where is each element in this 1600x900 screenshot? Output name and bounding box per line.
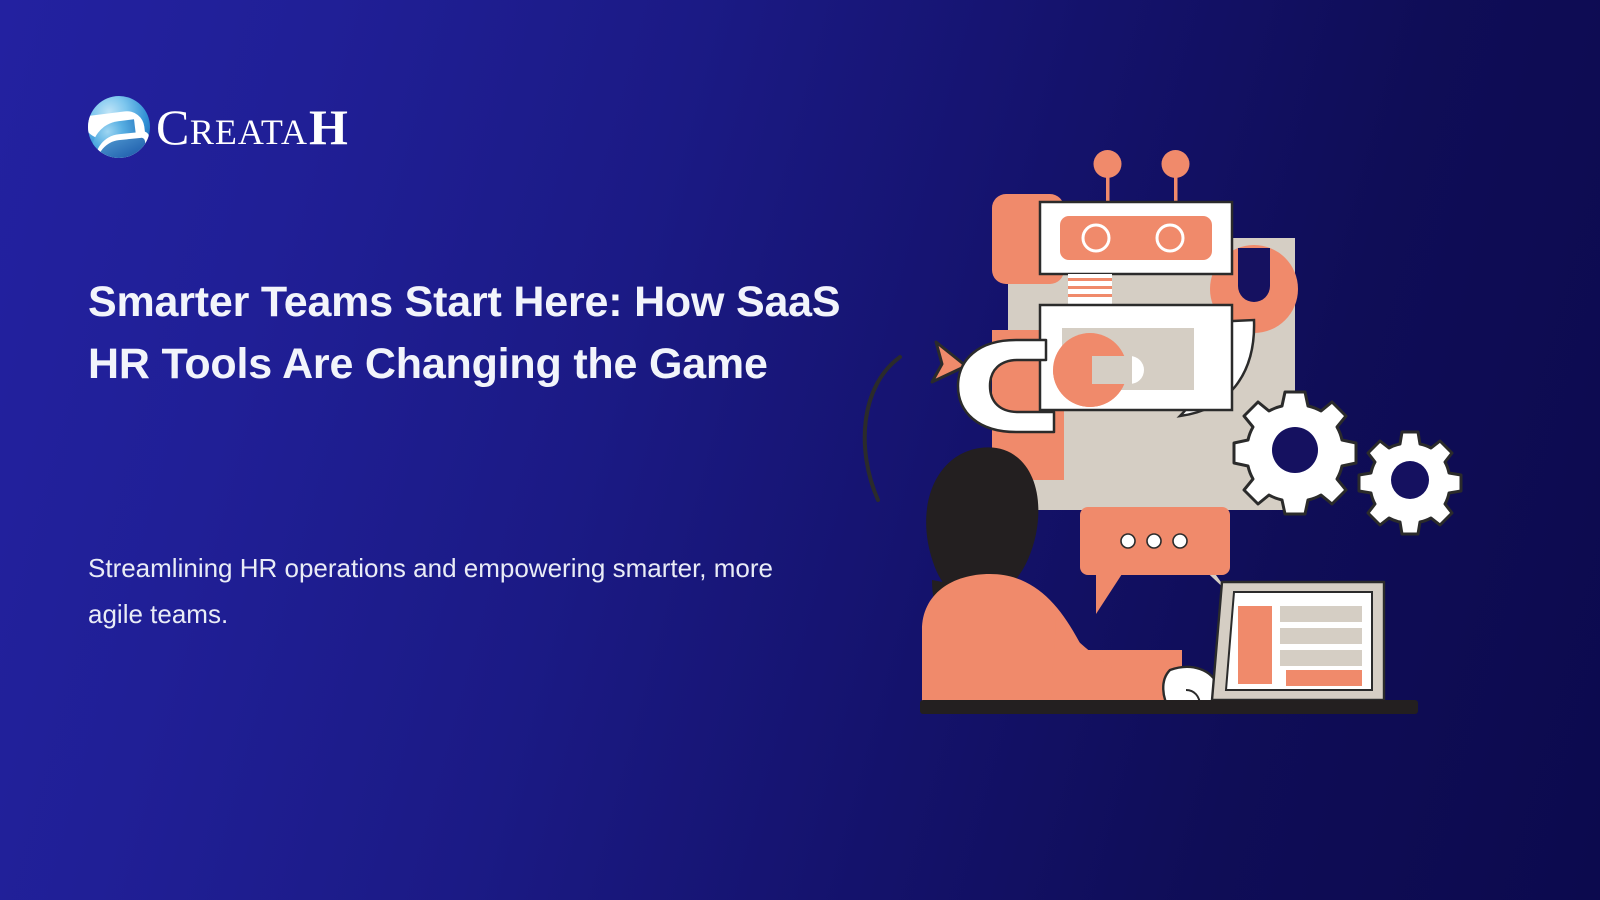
hero-banner: C REATA H Smarter Teams Start Here: How … (0, 0, 1600, 900)
brand-wordmark-lead: C (156, 102, 190, 152)
brand-wordmark: C REATA H (156, 102, 348, 152)
wave-circle-logo-icon (88, 96, 150, 158)
hero-illustration (840, 150, 1540, 750)
laptop (1212, 582, 1384, 700)
brand-logo[interactable]: C REATA H (88, 96, 348, 158)
gear-small (1359, 432, 1461, 534)
robot-head (1040, 202, 1232, 274)
illustration-svg (840, 150, 1540, 750)
page-title: Smarter Teams Start Here: How SaaS HR To… (88, 272, 848, 396)
robot-antennae (1094, 150, 1190, 204)
page-subtitle: Streamlining HR operations and empowerin… (88, 545, 788, 638)
robot-neck (1068, 274, 1112, 304)
brand-wordmark-rest: REATA (190, 114, 308, 150)
brand-wordmark-suffix: H (309, 102, 348, 152)
desk (920, 700, 1418, 714)
chat-bubble-dots (1080, 507, 1230, 614)
